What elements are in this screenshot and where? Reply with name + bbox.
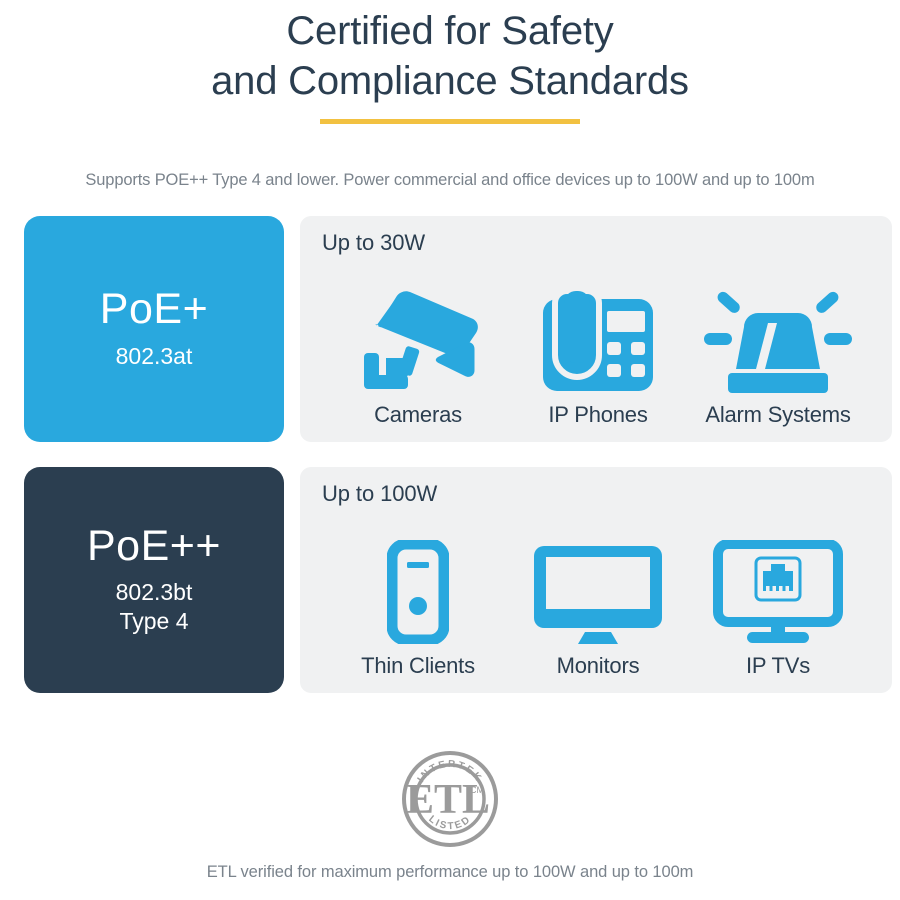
device-item-thin-clients: Thin Clients	[328, 528, 508, 679]
standard-spec-line-1: 802.3bt	[116, 578, 193, 607]
device-icon-group: Cameras	[322, 256, 874, 430]
title-underline-rule	[320, 119, 580, 124]
panel-power-title: Up to 30W	[322, 230, 874, 256]
device-icon-group: Thin Clients Monitors	[322, 507, 874, 681]
page-title-line-2: and Compliance Standards	[0, 56, 900, 106]
device-label: Alarm Systems	[705, 402, 850, 428]
poe-standard-row: PoE++ 802.3bt Type 4 Up to 100W	[24, 467, 876, 693]
ip-tv-icon	[713, 528, 843, 644]
rj45-connector-glyph	[763, 564, 793, 595]
device-item-cameras: Cameras	[328, 277, 508, 428]
thin-client-tower-icon	[387, 528, 449, 644]
subtitle-text: Supports POE++ Type 4 and lower. Power c…	[0, 171, 900, 190]
device-label: Cameras	[374, 402, 462, 428]
device-item-alarm-systems: Alarm Systems	[688, 277, 868, 428]
standard-card-poe-plus: PoE+ 802.3at	[24, 216, 284, 442]
cctv-camera-icon	[352, 277, 484, 393]
standard-spec-line-1: 802.3at	[116, 342, 193, 371]
device-item-ip-tvs: IP TVs	[688, 528, 868, 679]
poe-standards-list: PoE+ 802.3at Up to 30W	[0, 216, 900, 693]
device-item-ip-phones: IP Phones	[508, 277, 688, 428]
device-label: Monitors	[557, 653, 640, 679]
device-panel-100w: Up to 100W Thin Clients	[300, 467, 892, 693]
standard-name: PoE+	[100, 287, 208, 332]
device-item-monitors: Monitors	[508, 528, 688, 679]
standard-spec-line-2: Type 4	[116, 607, 193, 636]
poe-standard-row: PoE+ 802.3at Up to 30W	[24, 216, 876, 442]
monitor-icon	[532, 528, 664, 644]
page-header: Certified for Safety and Compliance Stan…	[0, 0, 900, 124]
page-title-line-1: Certified for Safety	[0, 6, 900, 56]
device-label: IP TVs	[746, 653, 810, 679]
device-label: IP Phones	[548, 402, 647, 428]
page-footer: INTERTEK LISTED ETL CM ETL verified for …	[0, 747, 900, 882]
etl-listed-certification-badge: INTERTEK LISTED ETL CM	[398, 747, 502, 851]
footer-note-text: ETL verified for maximum performance up …	[0, 863, 900, 882]
alarm-siren-icon	[700, 277, 856, 393]
standard-card-poe-plus-plus: PoE++ 802.3bt Type 4	[24, 467, 284, 693]
device-label: Thin Clients	[361, 653, 475, 679]
desk-phone-icon	[539, 277, 657, 393]
standard-name: PoE++	[87, 524, 221, 569]
badge-superscript-text: CM	[470, 785, 484, 795]
panel-power-title: Up to 100W	[322, 481, 874, 507]
badge-center-text: ETL	[406, 777, 490, 823]
device-panel-30w: Up to 30W	[300, 216, 892, 442]
